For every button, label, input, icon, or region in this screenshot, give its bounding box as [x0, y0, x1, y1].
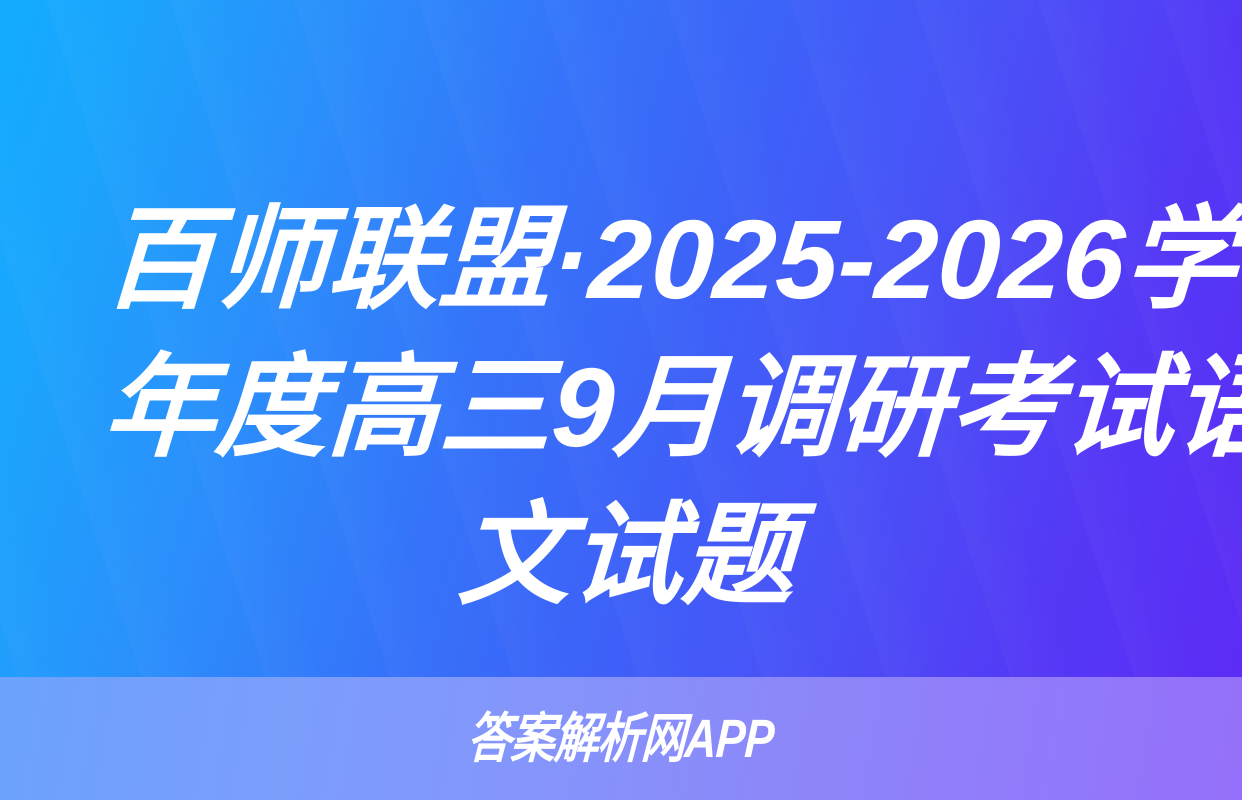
title-line-2: 年度高三9月调研考试语: [100, 334, 1154, 482]
footer-brand-band: 答案解析网APP: [0, 677, 1242, 800]
brand-watermark-label: 答案解析网APP: [466, 709, 775, 769]
title-line-1: 百师联盟·2025-2026学: [100, 186, 1154, 334]
title-line-3: 文试题: [100, 482, 1154, 630]
hero-gradient-panel: 百师联盟·2025-2026学 年度高三9月调研考试语 文试题: [0, 0, 1242, 677]
page-title: 百师联盟·2025-2026学 年度高三9月调研考试语 文试题: [100, 186, 1146, 630]
poster-canvas: 百师联盟·2025-2026学 年度高三9月调研考试语 文试题 答案解析网APP: [0, 0, 1242, 800]
